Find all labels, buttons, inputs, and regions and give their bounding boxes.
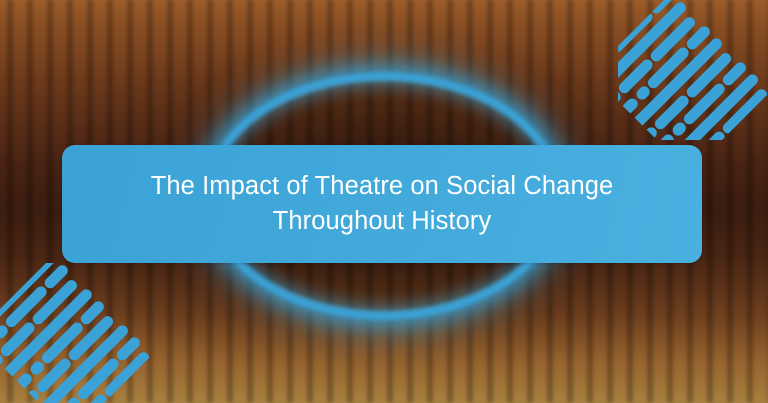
title-banner: The Impact of Theatre on Social Change T… [62, 145, 702, 263]
page-title: The Impact of Theatre on Social Change T… [102, 169, 662, 239]
title-slide: The Impact of Theatre on Social Change T… [0, 0, 768, 403]
